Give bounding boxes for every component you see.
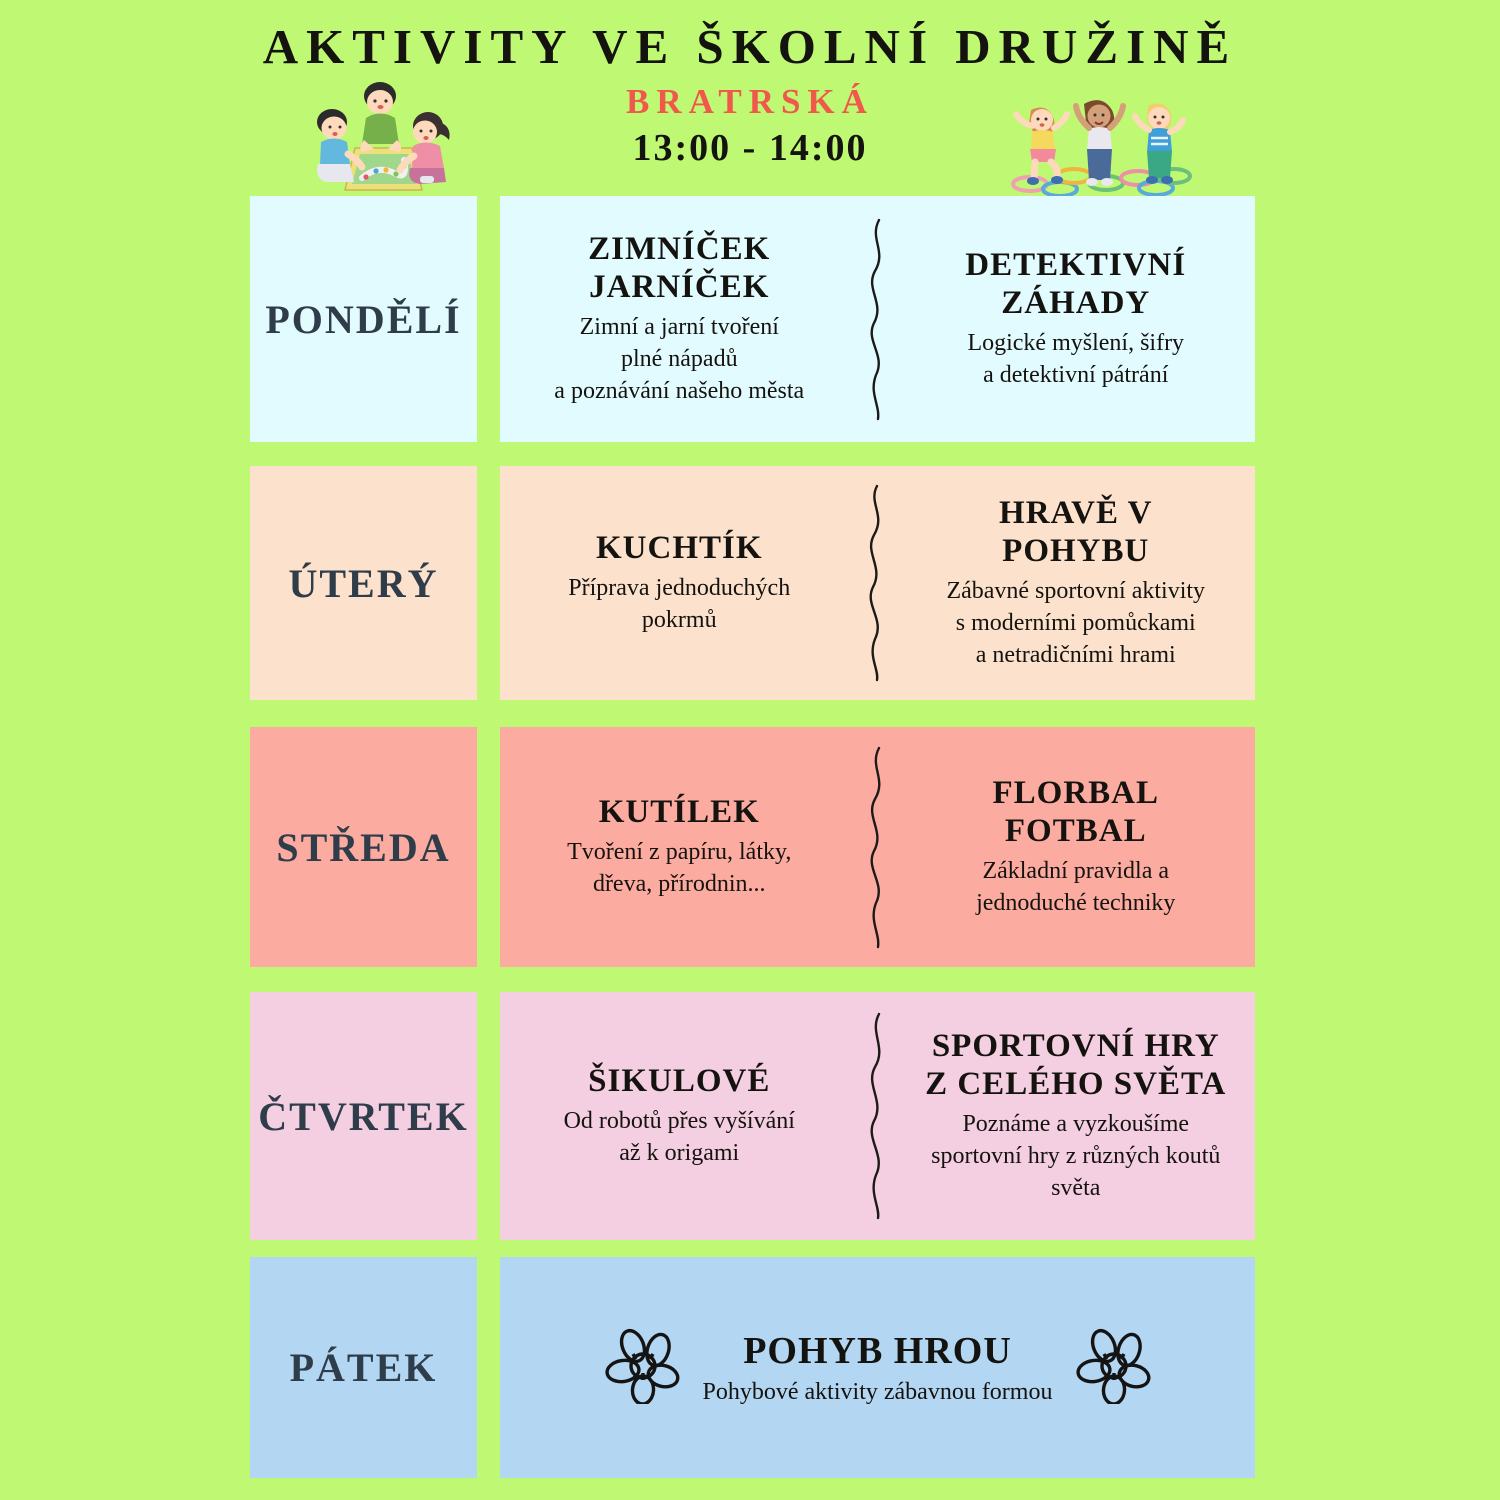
day-label-friday: PÁTEK	[290, 1344, 438, 1391]
activity-card: HRAVĚ V POHYBU Zábavné sportovní aktivit…	[897, 494, 1256, 672]
activity-title: SPORTOVNÍ HRY Z CELÉHO SVĚTA	[925, 1027, 1226, 1104]
activity-title-line1: ZIMNÍČEK	[588, 231, 770, 267]
children-jumping-hoops-illustration	[1008, 88, 1193, 200]
day-label-thursday: ČTVRTEK	[258, 1093, 468, 1140]
desc-line2: jednoduché techniky	[976, 890, 1175, 916]
desc-line2: pokrmů	[642, 607, 717, 633]
activity-title-line1: FLORBAL	[992, 775, 1159, 811]
desc-line2: a detektivní pátrání	[983, 362, 1168, 388]
activity-card: ZIMNÍČEK JARNÍČEK Zimní a jarní tvoření …	[500, 230, 859, 408]
day-label-wednesday: STŘEDA	[276, 824, 450, 871]
content-box-tuesday: KUCHTÍK Příprava jednoduchých pokrmů HRA…	[500, 466, 1255, 700]
activity-title-line1: ŠIKULOVÉ	[588, 1063, 770, 1099]
activity-description: Tvoření z papíru, látky, dřeva, přírodni…	[567, 837, 791, 901]
activity-description: Logické myšlení, šifry a detektivní pátr…	[967, 328, 1184, 392]
activity-title: HRAVĚ V POHYBU	[999, 494, 1152, 571]
squiggle-divider-icon	[859, 1011, 897, 1221]
desc-line3: a netradičními hrami	[976, 642, 1176, 668]
desc-line2: plné nápadů	[621, 346, 738, 372]
activity-card: ŠIKULOVÉ Od robotů přes vyšívání až k or…	[500, 1062, 859, 1170]
day-label-monday: PONDĚLÍ	[265, 296, 461, 343]
desc-line2: s moderními pomůckami	[956, 610, 1196, 636]
activity-title: KUCHTÍK	[596, 529, 763, 567]
activity-title-line1: SPORTOVNÍ HRY	[932, 1028, 1220, 1064]
activity-title: POHYB HROU	[743, 1329, 1012, 1373]
desc-line3: a poznávání našeho města	[554, 378, 804, 404]
activity-title-line1: HRAVĚ V	[999, 495, 1152, 531]
flower-icon	[603, 1326, 681, 1409]
activity-title: FLORBAL FOTBAL	[992, 774, 1159, 851]
flower-icon	[1074, 1326, 1152, 1409]
schedule-row-tuesday: ÚTERÝ KUCHTÍK Příprava jednoduchých pokr…	[250, 466, 1255, 700]
poster-header: AKTIVITY VE ŠKOLNÍ DRUŽINĚ BRATRSKÁ 13:0…	[0, 0, 1500, 190]
day-box-tuesday: ÚTERÝ	[250, 466, 477, 700]
squiggle-divider-icon	[859, 217, 897, 422]
desc-line1: Zimní a jarní tvoření	[580, 314, 779, 340]
activity-description: Zábavné sportovní aktivity s moderními p…	[946, 576, 1205, 672]
content-box-friday: POHYB HROU Pohybové aktivity zábavnou fo…	[500, 1257, 1255, 1478]
activity-card: FLORBAL FOTBAL Základní pravidla a jedno…	[897, 774, 1256, 920]
activity-title: ZIMNÍČEK JARNÍČEK	[588, 230, 770, 307]
desc-line3: světa	[1051, 1175, 1100, 1201]
activity-title: ŠIKULOVÉ	[588, 1062, 770, 1100]
activity-title-line2: Z CELÉHO SVĚTA	[925, 1066, 1226, 1102]
page-title: AKTIVITY VE ŠKOLNÍ DRUŽINĚ	[0, 18, 1500, 75]
time-range: 13:00 - 14:00	[0, 126, 1500, 170]
schedule-row-wednesday: STŘEDA KUTÍLEK Tvoření z papíru, látky, …	[250, 727, 1255, 967]
activity-description: Pohybové aktivity zábavnou formou	[703, 1379, 1053, 1406]
activity-card: DETEKTIVNÍ ZÁHADY Logické myšlení, šifry…	[897, 246, 1256, 392]
children-playing-board-game-illustration	[300, 78, 465, 193]
activity-title-line1: DETEKTIVNÍ ZÁHADY	[965, 247, 1186, 321]
activity-description: Příprava jednoduchých pokrmů	[568, 573, 790, 637]
poster-root: AKTIVITY VE ŠKOLNÍ DRUŽINĚ BRATRSKÁ 13:0…	[0, 0, 1500, 1500]
content-box-monday: ZIMNÍČEK JARNÍČEK Zimní a jarní tvoření …	[500, 196, 1255, 442]
schedule-row-monday: PONDĚLÍ ZIMNÍČEK JARNÍČEK Zimní a jarní …	[250, 196, 1255, 442]
squiggle-divider-icon	[859, 483, 897, 683]
activity-description: Základní pravidla a jednoduché techniky	[976, 856, 1175, 920]
activity-title: DETEKTIVNÍ ZÁHADY	[903, 246, 1250, 323]
desc-line2: až k origami	[619, 1140, 739, 1166]
schedule-row-thursday: ČTVRTEK ŠIKULOVÉ Od robotů přes vyšívání…	[250, 992, 1255, 1240]
day-box-thursday: ČTVRTEK	[250, 992, 477, 1240]
desc-line2: dřeva, přírodnin...	[593, 871, 766, 897]
schedule-row-friday: PÁTEK POHYB HROU Pohyb	[250, 1257, 1255, 1478]
activity-card: KUCHTÍK Příprava jednoduchých pokrmů	[500, 529, 859, 637]
activity-title-line2: FOTBAL	[1005, 813, 1147, 849]
activity-description: Od robotů přes vyšívání až k origami	[564, 1106, 795, 1170]
day-box-monday: PONDĚLÍ	[250, 196, 477, 442]
desc-line1: Poznáme a vyzkoušíme	[962, 1111, 1189, 1137]
activity-title-line2: JARNÍČEK	[589, 269, 769, 305]
activity-title-line2: POHYBU	[1002, 533, 1149, 569]
desc-line1: Logické myšlení, šifry	[967, 330, 1184, 356]
desc-line1: Od robotů přes vyšívání	[564, 1108, 795, 1134]
activity-title: KUTÍLEK	[599, 793, 760, 831]
desc-line1: Příprava jednoduchých	[568, 575, 790, 601]
activity-title-line1: KUCHTÍK	[596, 530, 763, 566]
day-box-wednesday: STŘEDA	[250, 727, 477, 967]
activity-title-line1: KUTÍLEK	[599, 794, 760, 830]
desc-line2: sportovní hry z různých koutů	[931, 1143, 1220, 1169]
activity-description: Poznáme a vyzkoušíme sportovní hry z růz…	[931, 1109, 1220, 1205]
content-box-thursday: ŠIKULOVÉ Od robotů přes vyšívání až k or…	[500, 992, 1255, 1240]
activity-card: SPORTOVNÍ HRY Z CELÉHO SVĚTA Poznáme a v…	[897, 1027, 1256, 1205]
desc-line1: Zábavné sportovní aktivity	[946, 578, 1205, 604]
desc-line1: Základní pravidla a	[982, 858, 1169, 884]
activity-card-friday: POHYB HROU Pohybové aktivity zábavnou fo…	[681, 1329, 1075, 1406]
school-name: BRATRSKÁ	[0, 82, 1500, 122]
desc-line1: Tvoření z papíru, látky,	[567, 839, 791, 865]
day-box-friday: PÁTEK	[250, 1257, 477, 1478]
day-label-tuesday: ÚTERÝ	[288, 560, 438, 607]
squiggle-divider-icon	[859, 745, 897, 950]
content-box-wednesday: KUTÍLEK Tvoření z papíru, látky, dřeva, …	[500, 727, 1255, 967]
activity-description: Zimní a jarní tvoření plné nápadů a pozn…	[554, 312, 804, 408]
activity-card: KUTÍLEK Tvoření z papíru, látky, dřeva, …	[500, 793, 859, 901]
